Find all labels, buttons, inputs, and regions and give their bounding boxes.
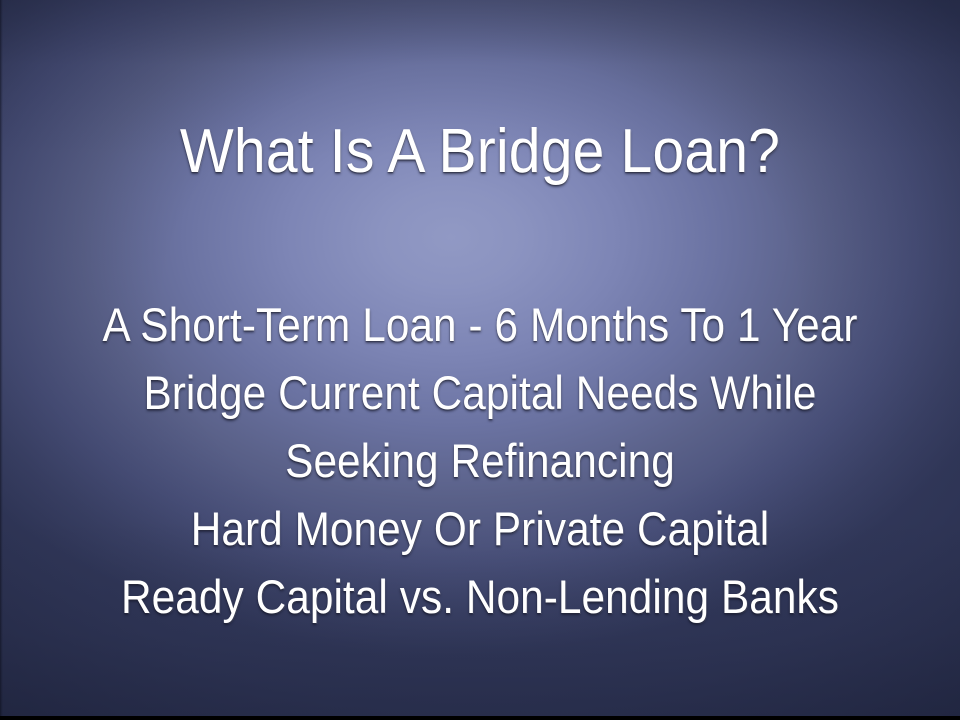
slide-content: What Is A Bridge Loan? A Short-Term Loan…	[0, 0, 960, 720]
slide-title: What Is A Bridge Loan?	[38, 121, 921, 183]
slide-body: A Short-Term Loan - 6 Months To 1 Year B…	[0, 291, 960, 631]
body-line: Hard Money Or Private Capital	[48, 495, 912, 563]
body-line: A Short-Term Loan - 6 Months To 1 Year	[48, 291, 912, 359]
body-line: Seeking Refinancing	[48, 427, 912, 495]
left-edge-bar	[0, 0, 3, 720]
presentation-slide: What Is A Bridge Loan? A Short-Term Loan…	[0, 0, 960, 720]
body-line: Bridge Current Capital Needs While	[48, 359, 912, 427]
body-line: Ready Capital vs. Non-Lending Banks	[48, 563, 912, 631]
bottom-letterbox-bar	[0, 716, 960, 720]
